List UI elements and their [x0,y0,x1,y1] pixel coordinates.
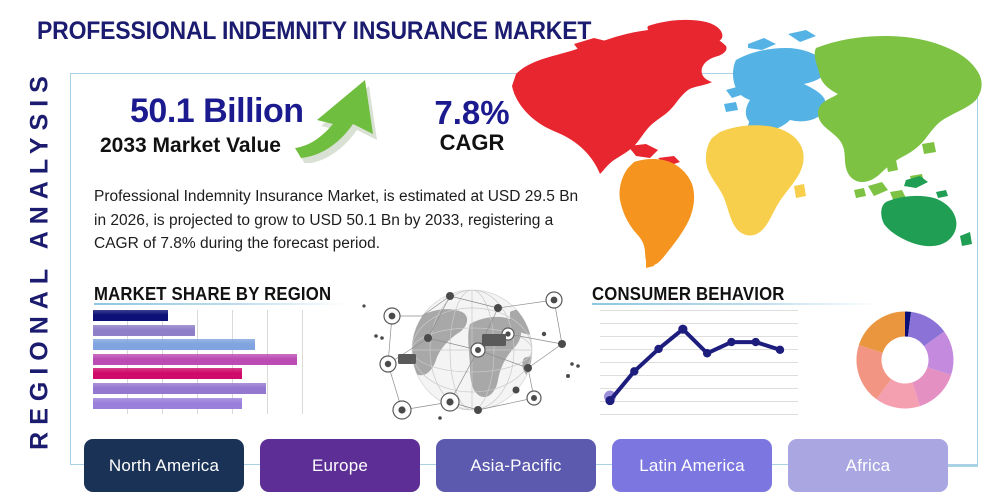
donut-segment [934,339,941,371]
bar [93,310,168,321]
donut-segment [910,324,935,339]
market-value-label: 2033 Market Value [100,134,281,158]
region-button-group[interactable]: North AmericaEuropeAsia-PacificLatin Ame… [84,439,948,492]
data-point-marker [727,338,735,346]
region-button-asia-pacific[interactable]: Asia-Pacific [436,439,596,492]
bar [93,325,195,336]
bar [93,398,242,409]
bar-row [93,398,242,409]
region-button-africa[interactable]: Africa [788,439,948,492]
gridline [600,414,798,415]
consumer-behavior-line-chart [600,310,798,414]
bar-row [93,339,255,350]
data-point-marker [703,349,711,357]
global-network-globe-icon [358,278,586,423]
market-value-number: 50.1 Billion [130,92,304,131]
bar-row [93,310,168,321]
market-share-heading-rule [94,303,347,305]
vertical-section-label: REGIONAL ANALYSIS [26,50,55,470]
region-button-latin-america[interactable]: Latin America [612,439,772,492]
bar-row [93,368,242,379]
bar [93,339,255,350]
market-share-heading: MARKET SHARE BY REGION [94,284,331,305]
data-point-marker [630,367,638,375]
donut-segment [871,324,905,349]
bar [93,383,266,394]
bar [93,354,297,365]
segment-donut-chart [855,310,955,410]
bar [93,368,242,379]
market-share-bar-chart [93,310,306,414]
data-point-marker [752,338,760,346]
donut-segment [916,371,939,394]
bar-row [93,383,266,394]
data-point-marker [605,396,614,405]
infographic-root: REGIONAL ANALYSIS PROFESSIONAL INDEMNITY… [0,0,1000,500]
donut-segment [869,349,884,389]
bar-row [93,325,195,336]
consumer-behavior-heading-rule [592,303,882,305]
bar-row [93,354,297,365]
consumer-behavior-heading: CONSUMER BEHAVIOR [592,284,785,305]
growth-arrow-icon [295,78,405,163]
data-point-marker [678,325,687,334]
data-point-marker [776,346,784,354]
region-button-europe[interactable]: Europe [260,439,420,492]
data-point-marker [654,345,662,353]
region-button-north-america[interactable]: North America [84,439,244,492]
world-map-icon [498,14,990,276]
donut-segment [884,389,916,396]
